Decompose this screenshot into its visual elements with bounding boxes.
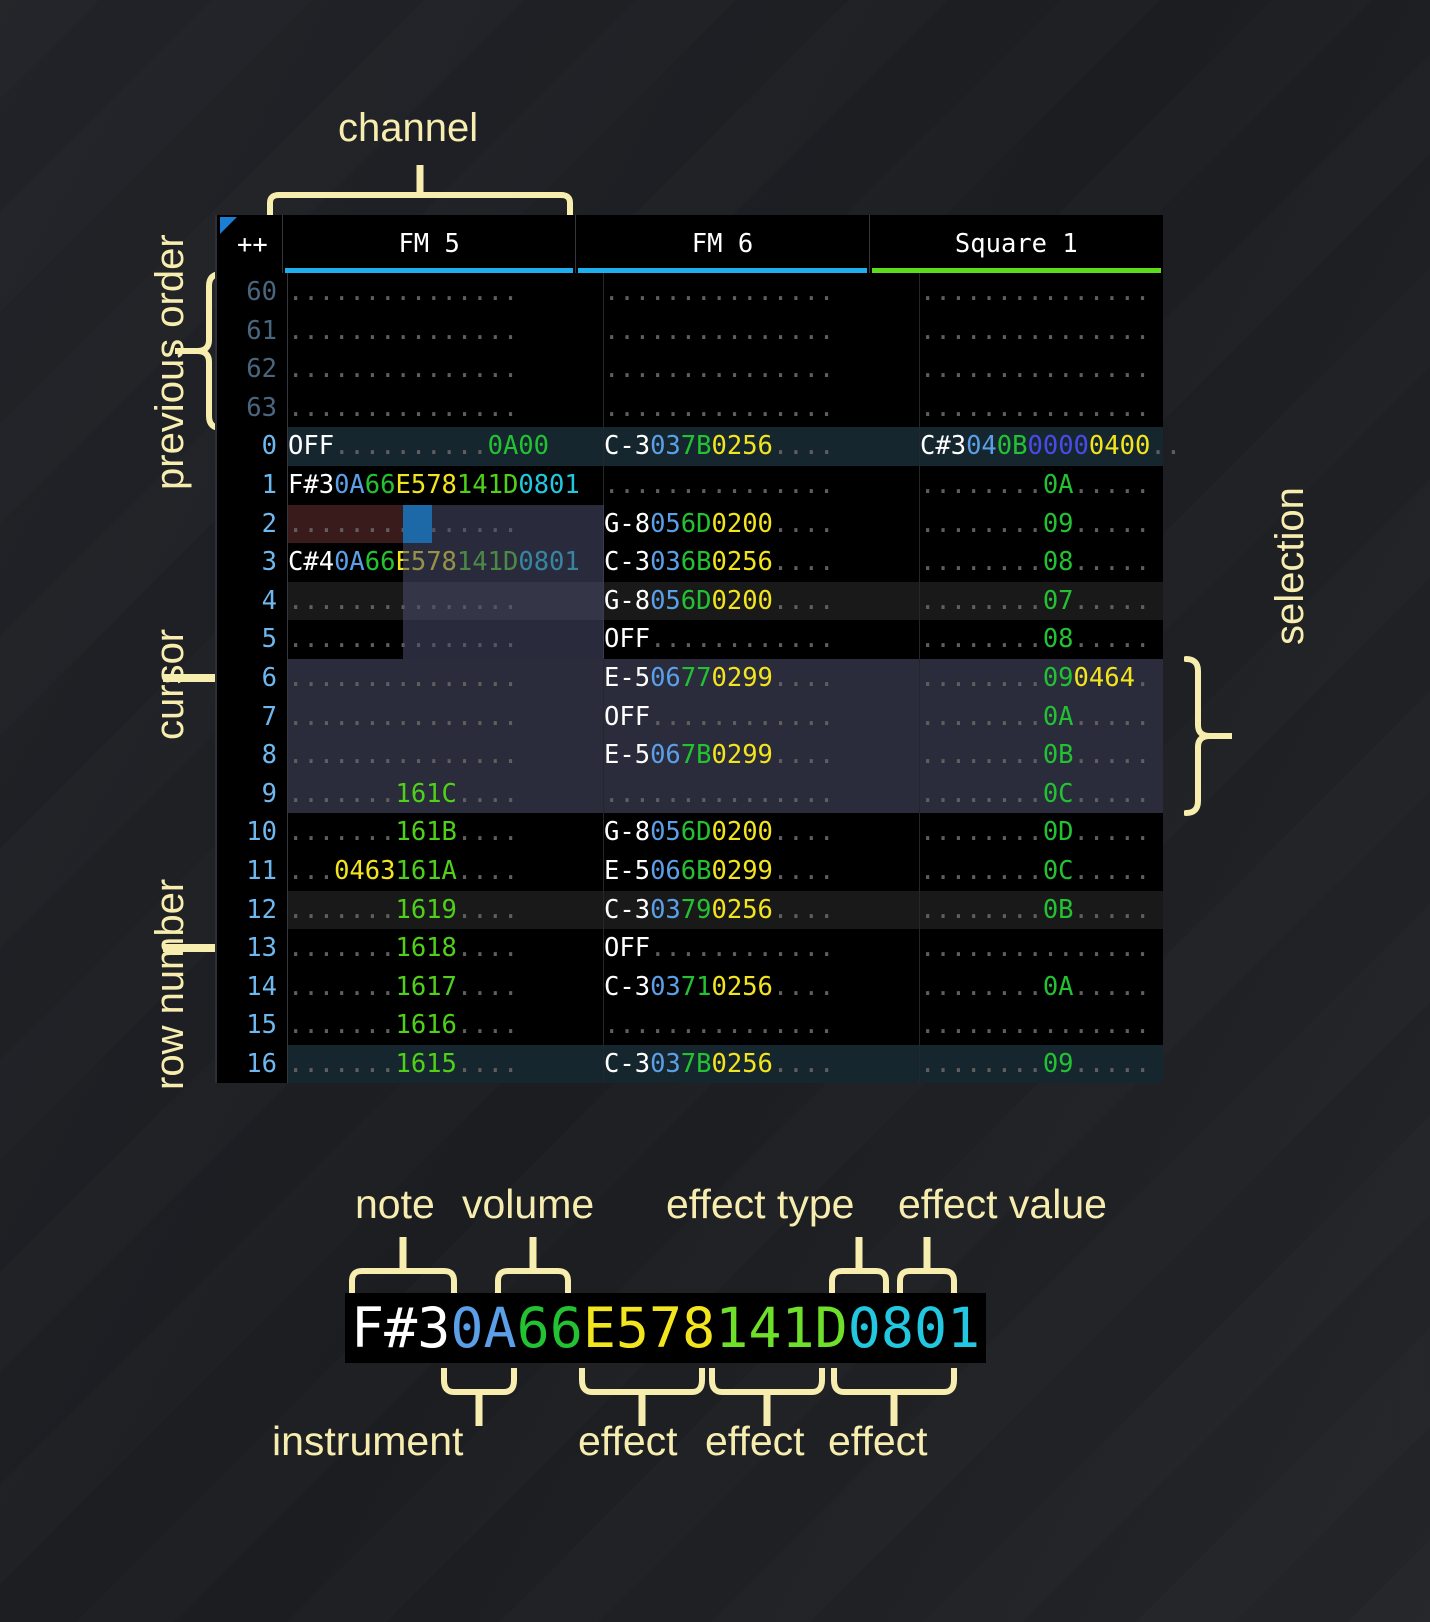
pattern-cell[interactable]: ............... bbox=[604, 350, 920, 389]
cell-token-dot: ..... bbox=[1074, 702, 1151, 732]
row-cells: ........................................… bbox=[288, 350, 1236, 389]
row-number: 2 bbox=[217, 505, 288, 544]
pattern-cell[interactable]: ............... bbox=[604, 1006, 920, 1045]
channel-header-fm6[interactable]: FM 6 bbox=[576, 215, 869, 273]
pattern-row[interactable]: 15.......1616...........................… bbox=[217, 1006, 1163, 1045]
pattern-cell[interactable]: OFF..........0A00 bbox=[288, 427, 604, 466]
cell-token-fx-y: 0200 bbox=[712, 817, 773, 847]
cell-token-dot: ..... bbox=[1074, 624, 1151, 654]
cell-token-dot: ....... bbox=[288, 1010, 395, 1040]
cell-token-dot: .... bbox=[457, 895, 518, 925]
pattern-cell[interactable]: ........09..... bbox=[920, 1045, 1236, 1084]
cell-token-dot: ... bbox=[288, 856, 334, 886]
cell-token-dot: ..... bbox=[1074, 1049, 1151, 1079]
pattern-cell[interactable]: ............... bbox=[920, 389, 1236, 428]
cell-token-dot: ..... bbox=[1074, 856, 1151, 886]
pattern-row[interactable]: 16.......1615....C-3037B0256............… bbox=[217, 1045, 1163, 1084]
cell-token-dot: ............... bbox=[920, 1010, 1150, 1040]
cell-token-note: C-3 bbox=[604, 1049, 650, 1079]
cell-token-vol: 6D bbox=[681, 586, 712, 616]
annotation-channel-label: channel bbox=[338, 106, 478, 151]
cell-token-dot: ..... bbox=[1074, 509, 1151, 539]
cell-token-vol: 0C bbox=[1043, 856, 1074, 886]
cell-token-note: C-3 bbox=[604, 972, 650, 1002]
cell-token-note: E-5 bbox=[604, 663, 650, 693]
pattern-cell[interactable]: G-8056D0200.... bbox=[604, 582, 920, 621]
pattern-cell[interactable]: ............... bbox=[288, 659, 604, 698]
cell-token-dot: ........ bbox=[920, 740, 1043, 770]
cell-token-dot: ............... bbox=[604, 779, 834, 809]
pattern-cell[interactable]: G-8056D0200.... bbox=[604, 505, 920, 544]
row-cells: .......1616.............................… bbox=[288, 1006, 1236, 1045]
pattern-row[interactable]: 5...............OFF....................0… bbox=[217, 620, 1163, 659]
cell-token-dot: ............... bbox=[604, 470, 834, 500]
cell-token-dot: .......... bbox=[334, 431, 488, 461]
cell-token-ins: 03 bbox=[650, 895, 681, 925]
pattern-cell[interactable]: ............... bbox=[604, 389, 920, 428]
pattern-row[interactable]: 62......................................… bbox=[217, 350, 1163, 389]
cell-token-dot: ..... bbox=[1074, 779, 1151, 809]
cell-token-vol: 0C bbox=[1043, 779, 1074, 809]
cell-token-fx-g: 161A bbox=[395, 856, 456, 886]
row-number: 4 bbox=[217, 582, 288, 621]
cell-token-note: G-8 bbox=[604, 509, 650, 539]
cell-token-vol: 07 bbox=[1043, 586, 1074, 616]
pattern-row[interactable]: 10.......161B....G-8056D0200............… bbox=[217, 813, 1163, 852]
cell-token-dot: ........ bbox=[920, 470, 1043, 500]
pattern-cell[interactable]: .......161C.... bbox=[288, 775, 604, 814]
cell-token-dot: .... bbox=[457, 779, 518, 809]
pattern-cell[interactable]: ............... bbox=[604, 312, 920, 351]
cell-token-dot: ........ bbox=[920, 779, 1043, 809]
row-cells: ...............E-506770299............09… bbox=[288, 659, 1236, 698]
cell-token-note: OFF bbox=[604, 624, 650, 654]
annotation-instrument-label: instrument bbox=[272, 1418, 463, 1465]
pattern-cell[interactable]: ............... bbox=[920, 1006, 1236, 1045]
cell-token-dot: ..... bbox=[1074, 547, 1151, 577]
cell-token-dot: ........ bbox=[920, 972, 1043, 1002]
row-cells: ...............OFF....................0A… bbox=[288, 698, 1236, 737]
pattern-cell[interactable]: C-303790256.... bbox=[604, 891, 920, 930]
pattern-row[interactable]: 63......................................… bbox=[217, 389, 1163, 428]
breakdown-instrument: 0A bbox=[450, 1296, 516, 1360]
pattern-cell[interactable]: ........07..... bbox=[920, 582, 1236, 621]
cell-token-vol: 08 bbox=[1043, 624, 1074, 654]
cell-token-ins: 0A bbox=[334, 470, 365, 500]
cell-token-vol: 0A bbox=[1043, 972, 1074, 1002]
pattern-row[interactable]: 0OFF..........0A00C-3037B0256....C#3040B… bbox=[217, 427, 1163, 466]
row-number: 62 bbox=[217, 350, 288, 389]
row-cells: ...............OFF....................08… bbox=[288, 620, 1236, 659]
pattern-rows[interactable]: 60......................................… bbox=[217, 273, 1163, 1083]
pattern-cell[interactable]: ........0A..... bbox=[920, 968, 1236, 1007]
pattern-editor[interactable]: ++ FM 5 FM 6 Square 1 60................… bbox=[215, 215, 1163, 1083]
pattern-cell[interactable]: ........09..... bbox=[920, 505, 1236, 544]
pattern-cell[interactable]: ............... bbox=[604, 775, 920, 814]
annotation-effect3-label: effect bbox=[828, 1418, 928, 1465]
row-cells: .......1615....C-3037B0256............09… bbox=[288, 1045, 1236, 1084]
cell-token-dot: .... bbox=[457, 1049, 518, 1079]
cell-token-dot: ............... bbox=[288, 316, 518, 346]
corner-plus-label: ++ bbox=[237, 226, 268, 265]
cell-token-dot: ..... bbox=[1074, 586, 1151, 616]
cell-token-vol: 0B bbox=[1043, 895, 1074, 925]
row-cells: .......161B....G-8056D0200............0D… bbox=[288, 813, 1236, 852]
cell-token-fx-y: 0256 bbox=[712, 972, 773, 1002]
row-cells: .......1617....C-303710256............0A… bbox=[288, 968, 1236, 1007]
cell-token-fx-g: 1619 bbox=[395, 895, 456, 925]
cell-token-dot: ............... bbox=[604, 277, 834, 307]
cell-token-dot: ............... bbox=[288, 277, 518, 307]
pattern-cell[interactable]: ............... bbox=[920, 929, 1236, 968]
cell-token-ins: 06 bbox=[650, 663, 681, 693]
cell-token-dot: ............... bbox=[920, 393, 1150, 423]
cell-token-note: C-3 bbox=[604, 895, 650, 925]
pattern-cell[interactable]: C-3037B0256.... bbox=[604, 1045, 920, 1084]
annotation-note-brace bbox=[348, 1237, 458, 1293]
channel-header-fm5[interactable]: FM 5 bbox=[283, 215, 576, 273]
cell-token-dot: . bbox=[1135, 663, 1150, 693]
cell-token-dot: ........ bbox=[920, 547, 1043, 577]
row-number: 7 bbox=[217, 698, 288, 737]
cell-token-vol: 09 bbox=[1043, 509, 1074, 539]
cell-token-fx-y: 0299 bbox=[712, 856, 773, 886]
breakdown-effect-2: 141D bbox=[715, 1296, 847, 1360]
annotation-effect-type-label: effect type bbox=[666, 1181, 854, 1228]
cell-token-note: C-3 bbox=[604, 547, 650, 577]
pattern-cell[interactable]: OFF............ bbox=[604, 698, 920, 737]
pattern-cell[interactable]: ............... bbox=[288, 620, 604, 659]
pattern-row[interactable]: 3C#40A66E578141D0801C-3036B0256.........… bbox=[217, 543, 1163, 582]
cell-token-ins: 06 bbox=[650, 740, 681, 770]
row-number: 61 bbox=[217, 312, 288, 351]
cell-token-dot: ............ bbox=[650, 624, 834, 654]
annotation-cursor-label: cursor bbox=[148, 629, 193, 740]
cell-token-ins: 06 bbox=[650, 856, 681, 886]
cell-token-fx-y: E578 bbox=[396, 547, 457, 577]
cell-token-vol: 08 bbox=[1043, 547, 1074, 577]
cell-token-dot: .... bbox=[773, 663, 834, 693]
cell-token-fx-y: 0256 bbox=[712, 895, 773, 925]
cell-token-fx-y: 0200 bbox=[712, 509, 773, 539]
channel-header-square1[interactable]: Square 1 bbox=[870, 215, 1163, 273]
row-cells: ........................................… bbox=[288, 312, 1236, 351]
order-indicator-corner[interactable]: ++ bbox=[217, 215, 283, 273]
cell-token-ins: 05 bbox=[650, 817, 681, 847]
pattern-cell[interactable]: E-5067B0299.... bbox=[604, 736, 920, 775]
row-number: 60 bbox=[217, 273, 288, 312]
row-cells: OFF..........0A00C-3037B0256....C#3040B0… bbox=[288, 427, 1236, 466]
edit-cursor[interactable] bbox=[403, 505, 432, 544]
pattern-cell[interactable]: ........0C..... bbox=[920, 852, 1236, 891]
row-cells: .......1618....OFF......................… bbox=[288, 929, 1236, 968]
row-number: 14 bbox=[217, 968, 288, 1007]
row-number: 13 bbox=[217, 929, 288, 968]
cell-token-fx-g: 161C bbox=[395, 779, 456, 809]
annotation-previous-order-label: previous order bbox=[148, 234, 193, 490]
row-number: 6 bbox=[217, 659, 288, 698]
cell-token-vol: 0B bbox=[1043, 740, 1074, 770]
cell-token-note: C#4 bbox=[288, 547, 334, 577]
cell-token-dot: ..... bbox=[1074, 817, 1151, 847]
cell-token-dot: ....... bbox=[288, 817, 395, 847]
cell-token-dot: ..... bbox=[1074, 470, 1151, 500]
breakdown-effect-3: 0801 bbox=[848, 1296, 980, 1360]
cell-token-ins: 03 bbox=[650, 431, 681, 461]
pattern-cell[interactable]: C-303710256.... bbox=[604, 968, 920, 1007]
pattern-cell[interactable]: .......1616.... bbox=[288, 1006, 604, 1045]
pattern-cell[interactable]: ........0B..... bbox=[920, 891, 1236, 930]
cell-token-vol: 6D bbox=[681, 509, 712, 539]
pattern-cell[interactable]: ........08..... bbox=[920, 620, 1236, 659]
cell-token-dot: ............... bbox=[288, 586, 518, 616]
pattern-cell[interactable]: ........0D..... bbox=[920, 813, 1236, 852]
pattern-cell[interactable]: .......1618.... bbox=[288, 929, 604, 968]
cell-token-note: C#3 bbox=[920, 431, 966, 461]
pattern-row[interactable]: 7...............OFF....................0… bbox=[217, 698, 1163, 737]
cell-token-note: G-8 bbox=[604, 586, 650, 616]
pattern-cell[interactable]: OFF............ bbox=[604, 620, 920, 659]
row-cells: ...0463161A....E-5066B0299............0C… bbox=[288, 852, 1236, 891]
cell-token-fx-g: 1616 bbox=[395, 1010, 456, 1040]
pattern-cell[interactable]: E-5066B0299.... bbox=[604, 852, 920, 891]
row-number: 11 bbox=[217, 852, 288, 891]
cell-token-dot: .... bbox=[773, 431, 834, 461]
pattern-cell[interactable]: .......161B.... bbox=[288, 813, 604, 852]
pattern-cell[interactable]: ............... bbox=[920, 350, 1236, 389]
cell-token-ins: 05 bbox=[650, 586, 681, 616]
cell-token-vol: 0A00 bbox=[488, 431, 549, 461]
cell-token-dot: .... bbox=[773, 1049, 834, 1079]
pattern-cell[interactable]: ............... bbox=[920, 312, 1236, 351]
pattern-row[interactable]: 11...0463161A....E-5066B0299............… bbox=[217, 852, 1163, 891]
pattern-cell[interactable]: ............... bbox=[604, 466, 920, 505]
cell-token-dot: .... bbox=[457, 933, 518, 963]
cell-token-dot: ............... bbox=[604, 393, 834, 423]
pattern-cell[interactable]: .......1617.... bbox=[288, 968, 604, 1007]
cell-token-fx-y: 0400 bbox=[1089, 431, 1150, 461]
pattern-row[interactable]: 8...............E-5067B0299............0… bbox=[217, 736, 1163, 775]
cell-token-vol: 6B bbox=[681, 856, 712, 886]
cell-token-fx-g: 141D bbox=[457, 547, 518, 577]
cell-token-dot: ............... bbox=[604, 316, 834, 346]
cell-token-ins: 03 bbox=[650, 547, 681, 577]
pattern-row[interactable]: 9.......161C...........................0… bbox=[217, 775, 1163, 814]
cell-token-dot: .... bbox=[773, 972, 834, 1002]
cell-token-dot: .... bbox=[457, 856, 518, 886]
cell-token-dot: ....... bbox=[288, 933, 395, 963]
breakdown-effect-1: E578 bbox=[583, 1296, 715, 1360]
cell-token-ins: 04 bbox=[966, 431, 997, 461]
cell-token-dot: ........ bbox=[920, 702, 1043, 732]
cell-token-dot: ........ bbox=[920, 663, 1043, 693]
cell-token-fx-y: 0256 bbox=[712, 547, 773, 577]
cell-token-dot: ..... bbox=[1074, 972, 1151, 1002]
cell-token-note: E-5 bbox=[604, 740, 650, 770]
pattern-cell[interactable]: ............... bbox=[920, 273, 1236, 312]
row-number: 5 bbox=[217, 620, 288, 659]
row-number: 15 bbox=[217, 1006, 288, 1045]
cell-token-dot: .... bbox=[773, 586, 834, 616]
pattern-row[interactable]: 4...............G-8056D0200............0… bbox=[217, 582, 1163, 621]
cell-token-dot: ............... bbox=[920, 316, 1150, 346]
cell-token-fx-y: 0299 bbox=[712, 663, 773, 693]
pattern-row[interactable]: 12.......1619....C-303790256............… bbox=[217, 891, 1163, 930]
cell-token-fx-y: 0464 bbox=[1074, 663, 1135, 693]
cell-token-dot: .. bbox=[1150, 431, 1181, 461]
annotation-volume-brace bbox=[494, 1237, 572, 1293]
cell-token-dot: ....... bbox=[288, 895, 395, 925]
annotation-selection-label: selection bbox=[1268, 487, 1313, 645]
pattern-row[interactable]: 6...............E-506770299............0… bbox=[217, 659, 1163, 698]
cell-token-fx-y: 0200 bbox=[712, 586, 773, 616]
row-number: 0 bbox=[217, 427, 288, 466]
cell-token-dot: ........ bbox=[920, 586, 1043, 616]
cell-token-vol: 66 bbox=[365, 547, 396, 577]
cell-token-dot: ........ bbox=[920, 509, 1043, 539]
pattern-cell[interactable]: C-3037B0256.... bbox=[604, 427, 920, 466]
cell-token-dot: ............ bbox=[650, 702, 834, 732]
pattern-cell[interactable]: .......1619.... bbox=[288, 891, 604, 930]
cell-token-dot: .... bbox=[773, 547, 834, 577]
cell-token-vol: 6B bbox=[681, 547, 712, 577]
cell-token-dot: .... bbox=[457, 817, 518, 847]
row-cells: F#30A66E578141D0801.....................… bbox=[288, 466, 1236, 505]
cell-token-dot: .... bbox=[773, 817, 834, 847]
cell-token-dot: ........ bbox=[920, 856, 1043, 886]
channel-name-square1: Square 1 bbox=[955, 225, 1078, 264]
cell-token-dot: ............... bbox=[920, 933, 1150, 963]
pattern-cell[interactable]: ........0C..... bbox=[920, 775, 1236, 814]
pattern-cell[interactable]: ........0A..... bbox=[920, 698, 1236, 737]
channel-name-fm5: FM 5 bbox=[398, 225, 459, 264]
pattern-cell[interactable]: ............... bbox=[604, 273, 920, 312]
cell-token-note: G-8 bbox=[604, 817, 650, 847]
row-number: 9 bbox=[217, 775, 288, 814]
cell-token-fx-b: 0000 bbox=[1028, 431, 1089, 461]
pattern-cell[interactable]: ............... bbox=[288, 350, 604, 389]
cell-token-vol: 0A bbox=[1043, 470, 1074, 500]
cell-token-note: OFF bbox=[604, 702, 650, 732]
row-cells: ........................................… bbox=[288, 273, 1236, 312]
cell-token-dot: ............... bbox=[920, 277, 1150, 307]
breakdown-volume: 66 bbox=[517, 1296, 583, 1360]
cell-token-dot: ..... bbox=[1074, 895, 1151, 925]
cell-token-ins: 0A bbox=[334, 547, 365, 577]
cell-token-fx-g: 141D bbox=[457, 470, 518, 500]
pattern-cell[interactable]: ............... bbox=[288, 389, 604, 428]
annotation-effect2-label: effect bbox=[705, 1418, 805, 1465]
pattern-cell[interactable]: ...0463161A.... bbox=[288, 852, 604, 891]
cell-token-ins: 03 bbox=[650, 972, 681, 1002]
pattern-cell[interactable]: OFF............ bbox=[604, 929, 920, 968]
cell-token-ins: 05 bbox=[650, 509, 681, 539]
pattern-cell[interactable]: F#30A66E578141D0801 bbox=[288, 466, 604, 505]
cell-token-dot: .... bbox=[457, 1010, 518, 1040]
pattern-cell[interactable]: ............... bbox=[288, 582, 604, 621]
breakdown-note: F#3 bbox=[351, 1296, 450, 1360]
row-cells: .......1619....C-303790256............0B… bbox=[288, 891, 1236, 930]
cell-token-vol: 79 bbox=[681, 895, 712, 925]
pattern-cell[interactable]: ........08..... bbox=[920, 543, 1236, 582]
cell-token-dot: ....... bbox=[288, 972, 395, 1002]
cell-token-dot: ............... bbox=[604, 1010, 834, 1040]
cell-token-dot: ............... bbox=[604, 354, 834, 384]
annotation-effect-type-brace bbox=[828, 1237, 890, 1293]
cell-token-vol: 09 bbox=[1043, 663, 1074, 693]
cell-token-dot: ........ bbox=[920, 895, 1043, 925]
pattern-cell[interactable]: C#3040B00000400.. bbox=[920, 427, 1236, 466]
cell-token-dot: ........ bbox=[920, 624, 1043, 654]
cell-token-vol: 7B bbox=[681, 1049, 712, 1079]
annotation-row-number-label: row number bbox=[148, 879, 193, 1090]
row-cells: ...............E-5067B0299............0B… bbox=[288, 736, 1236, 775]
row-cells: .......161C...........................0C… bbox=[288, 775, 1236, 814]
cell-token-vol: 77 bbox=[681, 663, 712, 693]
pattern-cell[interactable]: .......1615.... bbox=[288, 1045, 604, 1084]
cell-token-fx-y: 0256 bbox=[712, 1049, 773, 1079]
pattern-row[interactable]: 60......................................… bbox=[217, 273, 1163, 312]
pattern-cell-breakdown: F#30A66E578141D0801 bbox=[345, 1293, 986, 1363]
cell-token-dot: ....... bbox=[288, 779, 395, 809]
pattern-cell[interactable]: ............... bbox=[288, 736, 604, 775]
pattern-row[interactable]: 13.......1618....OFF....................… bbox=[217, 929, 1163, 968]
channel-name-fm6: FM 6 bbox=[692, 225, 753, 264]
pattern-row[interactable]: 61......................................… bbox=[217, 312, 1163, 351]
pattern-cell[interactable]: ............... bbox=[288, 505, 604, 544]
tracker-annotated-diagram: channel previous order cursor row number… bbox=[0, 0, 1430, 1622]
cell-token-fx-c: 0801 bbox=[518, 470, 579, 500]
row-number: 3 bbox=[217, 543, 288, 582]
row-number: 16 bbox=[217, 1045, 288, 1084]
pattern-cell[interactable]: E-506770299.... bbox=[604, 659, 920, 698]
cell-token-fx-y: E578 bbox=[396, 470, 457, 500]
cell-token-dot: ............... bbox=[288, 393, 518, 423]
pattern-cell[interactable]: G-8056D0200.... bbox=[604, 813, 920, 852]
row-number: 12 bbox=[217, 891, 288, 930]
cell-token-ins: 03 bbox=[650, 1049, 681, 1079]
cell-token-dot: ............... bbox=[288, 702, 518, 732]
pattern-cell[interactable]: ........0B..... bbox=[920, 736, 1236, 775]
cell-token-vol: 0D bbox=[1043, 817, 1074, 847]
annotation-volume-label: volume bbox=[462, 1181, 594, 1228]
cell-token-dot: ........ bbox=[920, 1049, 1043, 1079]
cell-token-fx-y: 0299 bbox=[712, 740, 773, 770]
pattern-cell[interactable]: C#40A66E578141D0801 bbox=[288, 543, 604, 582]
cell-token-dot: .... bbox=[773, 856, 834, 886]
pattern-cell[interactable]: ............... bbox=[288, 312, 604, 351]
cell-token-dot: ............... bbox=[920, 354, 1150, 384]
cell-token-vol: 6D bbox=[681, 817, 712, 847]
row-cells: ...............G-8056D0200............07… bbox=[288, 582, 1236, 621]
pattern-cell[interactable]: ............... bbox=[288, 698, 604, 737]
cell-token-fx-g: 161B bbox=[395, 817, 456, 847]
annotation-channel-brace bbox=[265, 165, 575, 217]
row-number: 10 bbox=[217, 813, 288, 852]
pattern-cell[interactable]: ............... bbox=[288, 273, 604, 312]
pattern-row[interactable]: 14.......1617....C-303710256............… bbox=[217, 968, 1163, 1007]
annotation-effect-value-brace bbox=[896, 1237, 958, 1293]
cell-token-dot: ............... bbox=[288, 740, 518, 770]
row-cells: ........................................… bbox=[288, 389, 1236, 428]
pattern-header-row: ++ FM 5 FM 6 Square 1 bbox=[217, 215, 1163, 273]
pattern-cell[interactable]: ........0A..... bbox=[920, 466, 1236, 505]
cell-token-note: OFF bbox=[288, 431, 334, 461]
pattern-row[interactable]: 2...............G-8056D0200............0… bbox=[217, 505, 1163, 544]
pattern-cell[interactable]: C-3036B0256.... bbox=[604, 543, 920, 582]
pattern-row[interactable]: 1F#30A66E578141D0801....................… bbox=[217, 466, 1163, 505]
pattern-cell[interactable]: ........090464. bbox=[920, 659, 1236, 698]
